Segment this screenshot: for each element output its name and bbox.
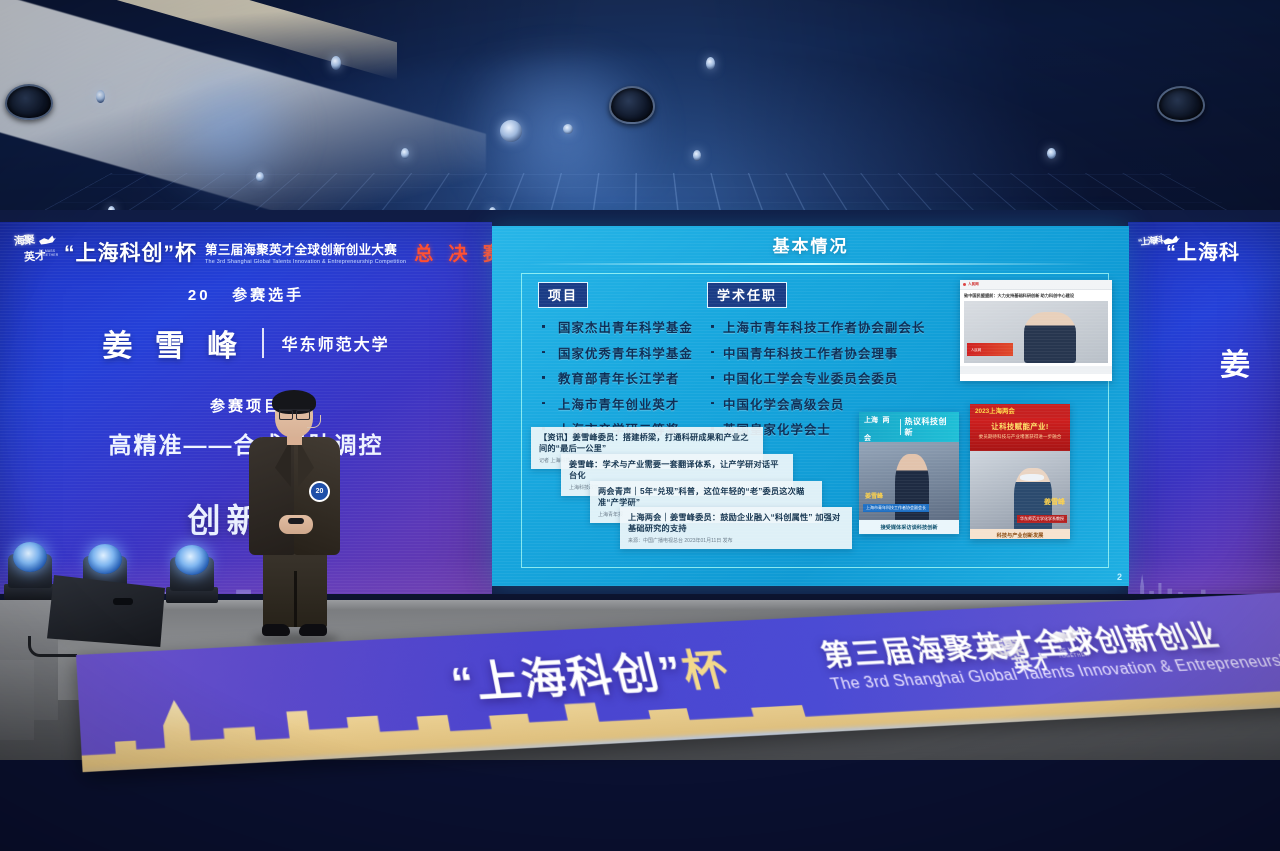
media-card-2-person-title: 华东师范大学化学系教授 bbox=[1017, 515, 1067, 523]
list-item: 中国青年科技工作者协会理事 bbox=[707, 344, 957, 362]
speaker-cable bbox=[28, 636, 77, 657]
contestant-name: 姜 雪 峰 bbox=[102, 321, 244, 365]
media-card-2-person-name: 姜雪峰 bbox=[1044, 497, 1065, 507]
banner-cup-title-block: “上海科创”杯 bbox=[445, 635, 734, 711]
led-panel-right: “上海科 “上海科 姜 bbox=[1128, 222, 1280, 620]
news-headline: 姜雪峰：学术与产业需要一套翻译体系，让产学研对话平台化 bbox=[569, 459, 785, 481]
ceiling-downlight-icon bbox=[256, 172, 264, 182]
face-mask-icon bbox=[1020, 474, 1044, 481]
media-card-1-photo: 姜雪峰 上海市青年科技工作者协会副会长 bbox=[859, 442, 959, 520]
cup-title: “上海科创”杯 bbox=[64, 237, 197, 267]
broadcaster-label: 人民网 bbox=[967, 343, 1013, 352]
stage-photo: 海聚 英才 BE MASS TOGETHER “上海科创”杯 第三届海聚英才全球… bbox=[0, 0, 1280, 851]
browser-screenshot-thumbnail: 人民网 致中国民盟盟前：大力支持基础科研创新 助力科创中心建设 人民网 bbox=[960, 280, 1112, 381]
contestant-label: 参赛选手 bbox=[232, 287, 304, 304]
media-card-2-photo: 姜雪峰 华东师范大学化学系教授 bbox=[970, 451, 1070, 529]
name-divider bbox=[262, 328, 264, 358]
ceiling-downlight-icon bbox=[500, 120, 522, 142]
news-meta: 来源：中国广播电视总台 2023年01月11日 发布 bbox=[628, 537, 844, 544]
tag-divider bbox=[900, 419, 901, 435]
ceiling-speaker-icon bbox=[5, 84, 53, 120]
media-card-2-headline: 让科技赋能产业! bbox=[970, 421, 1070, 432]
slide-title: 基本情况 bbox=[492, 232, 1129, 257]
moving-head-light bbox=[2, 538, 58, 600]
presenter-number-badge: 20 bbox=[309, 481, 330, 502]
event-name-cn: 第三届海聚英才全球创新创业大赛 bbox=[205, 239, 406, 258]
media-card-1-caption: 接受媒体采访谈科技创新 bbox=[859, 520, 959, 531]
banner-cup-quote: “上海科创” bbox=[448, 649, 690, 709]
ceiling-downlight-icon bbox=[706, 57, 715, 70]
broadcaster-banner: 人民网 bbox=[967, 343, 1013, 356]
media-card-2-caption: 科技与产业创新发展 bbox=[970, 529, 1070, 539]
ceiling-downlight-icon bbox=[693, 150, 701, 161]
media-card-two-sessions: 上海 两会 热议科技创新 姜雪峰 上海市青年科技工作者协会副会长 接受媒体采访谈… bbox=[859, 412, 959, 534]
tag-line-1: 上海 bbox=[864, 417, 878, 424]
projects-list: 国家杰出青年科学基金 国家优秀青年科学基金 教育部青年长江学者 上海市青年创业英… bbox=[538, 318, 718, 438]
ceiling-downlight-icon bbox=[563, 124, 573, 134]
contestant-number-row: 20 参赛选手 bbox=[0, 284, 492, 305]
list-item: 中国化工学会专业委员会委员 bbox=[707, 369, 957, 387]
news-headline: 上海两会｜姜雪峰委员：鼓励企业融入“科创属性” 加强对基础研究的支持 bbox=[628, 512, 844, 534]
logo-line-1: “上海科 bbox=[1137, 235, 1162, 248]
presenter-shoe-right bbox=[299, 624, 327, 636]
slide-column-projects: 项目 国家杰出青年科学基金 国家优秀青年科学基金 教育部青年长江学者 上海市青年… bbox=[538, 282, 718, 446]
ceiling bbox=[0, 0, 1280, 222]
list-item: 上海市青年科技工作者协会副会长 bbox=[707, 318, 957, 336]
presenter-trousers bbox=[263, 549, 327, 627]
presenter-shoe-left bbox=[262, 624, 290, 636]
media-card-1-title: 热议科技创新 bbox=[904, 416, 954, 438]
ceiling-downlight-icon bbox=[1047, 148, 1056, 159]
news-headline: 两会青声｜5年“兑现”科普，这位年轻的“老”委员这次瞄准“产学研” bbox=[598, 486, 814, 508]
media-card-1-header: 上海 两会 热议科技创新 bbox=[859, 412, 959, 442]
column-header-projects: 项目 bbox=[538, 282, 588, 308]
ceiling-downlight-icon bbox=[96, 90, 105, 103]
slide-page-number: 2 bbox=[1117, 572, 1122, 582]
headset-microphone-icon bbox=[307, 415, 321, 428]
logo-tagline: BE MASS TOGETHER bbox=[38, 249, 56, 257]
contestant-number: 20 bbox=[188, 287, 211, 304]
contestant-name-partial: 姜 bbox=[1220, 340, 1256, 384]
light-lens-icon bbox=[13, 542, 47, 572]
event-name-block: 第三届海聚英才全球创新创业大赛 The 3rd Shanghai Global … bbox=[205, 239, 406, 265]
ceiling-speaker-icon bbox=[1157, 86, 1205, 122]
ceiling-light-haze bbox=[140, 70, 320, 190]
news-headline: 【资讯】姜雪峰委员：搭建桥梁，打通科研成果和产业之间的“最后一公里” bbox=[539, 432, 755, 454]
ceiling-speaker-icon bbox=[609, 86, 655, 124]
contestant-name-row: 姜 雪 峰 华东师范大学 bbox=[0, 321, 492, 365]
moving-head-light bbox=[164, 541, 220, 603]
stage-step-lower bbox=[0, 660, 34, 740]
media-card-1-person-name: 姜雪峰 bbox=[865, 491, 883, 500]
light-lens-icon bbox=[88, 544, 122, 574]
presenter-hands bbox=[279, 515, 313, 534]
ceiling-downlight-icon bbox=[401, 148, 409, 159]
banner-event-block: 第三届海聚英才全球创新创业 The 3rd Shanghai Global Ta… bbox=[815, 608, 1280, 695]
media-card-2-headline-block: 让科技赋能产业! 委员期待科技与产业堵塞获得进一步融合 bbox=[970, 418, 1070, 451]
media-card-1-person-title: 上海市青年科技工作者协会副会长 bbox=[863, 504, 929, 512]
list-item: 国家杰出青年科学基金 bbox=[538, 318, 718, 336]
browser-headline: 致中国民盟盟前：大力支持基础科研创新 助力科创中心建设 bbox=[960, 290, 1112, 301]
light-lens-icon bbox=[175, 545, 209, 575]
list-item: 中国化学会高级会员 bbox=[707, 395, 957, 413]
interviewee-figure bbox=[1024, 312, 1076, 363]
media-card-2-tag: 2023上海两会 bbox=[970, 404, 1070, 418]
ceiling-downlight-icon bbox=[331, 56, 341, 70]
list-item: 国家优秀青年科学基金 bbox=[538, 344, 718, 362]
media-card-1-tag: 上海 两会 bbox=[864, 412, 896, 445]
list-item: 上海市青年创业英才 bbox=[538, 395, 718, 413]
cup-title-partial: “上海科 bbox=[1166, 236, 1240, 265]
contestant-organization: 华东师范大学 bbox=[282, 331, 390, 355]
list-item: 教育部青年长江学者 bbox=[538, 369, 718, 387]
site-logo: 人民网 bbox=[968, 282, 979, 287]
browser-dot-icon bbox=[963, 283, 966, 286]
presenter-figure: 20 bbox=[239, 393, 349, 640]
browser-footer bbox=[960, 366, 1112, 374]
dove-icon bbox=[39, 234, 56, 246]
news-card: 上海两会｜姜雪峰委员：鼓励企业融入“科创属性” 加强对基础研究的支持 来源：中国… bbox=[620, 507, 852, 549]
event-name-en: The 3rd Shanghai Global Talents Innovati… bbox=[205, 259, 406, 265]
haiju-yingcai-logo-icon: 海聚 英才 BE MASS TOGETHER bbox=[12, 232, 56, 272]
media-card-2023-two-sessions: 2023上海两会 让科技赋能产业! 委员期待科技与产业堵塞获得进一步融合 姜雪峰… bbox=[970, 404, 1070, 539]
final-round-label: 总 决 赛 bbox=[414, 239, 492, 266]
ceiling-light-haze bbox=[430, 55, 690, 205]
eyeglasses-icon bbox=[279, 409, 310, 418]
led-left-header: 海聚 英才 BE MASS TOGETHER “上海科创”杯 第三届海聚英才全球… bbox=[12, 232, 484, 272]
presentation-slide: 基本情况 项目 国家杰出青年科学基金 国家优秀青年科学基金 教育部青年长江学者 … bbox=[492, 226, 1129, 586]
media-card-2-subhead: 委员期待科技与产业堵塞获得进一步融合 bbox=[970, 434, 1070, 440]
browser-toolbar: 人民网 bbox=[960, 280, 1112, 290]
column-header-appointments: 学术任职 bbox=[707, 282, 787, 308]
browser-video-frame: 人民网 bbox=[964, 301, 1108, 363]
logo-line-1: 海聚 bbox=[13, 235, 34, 248]
slide-title-rule bbox=[528, 263, 1093, 265]
